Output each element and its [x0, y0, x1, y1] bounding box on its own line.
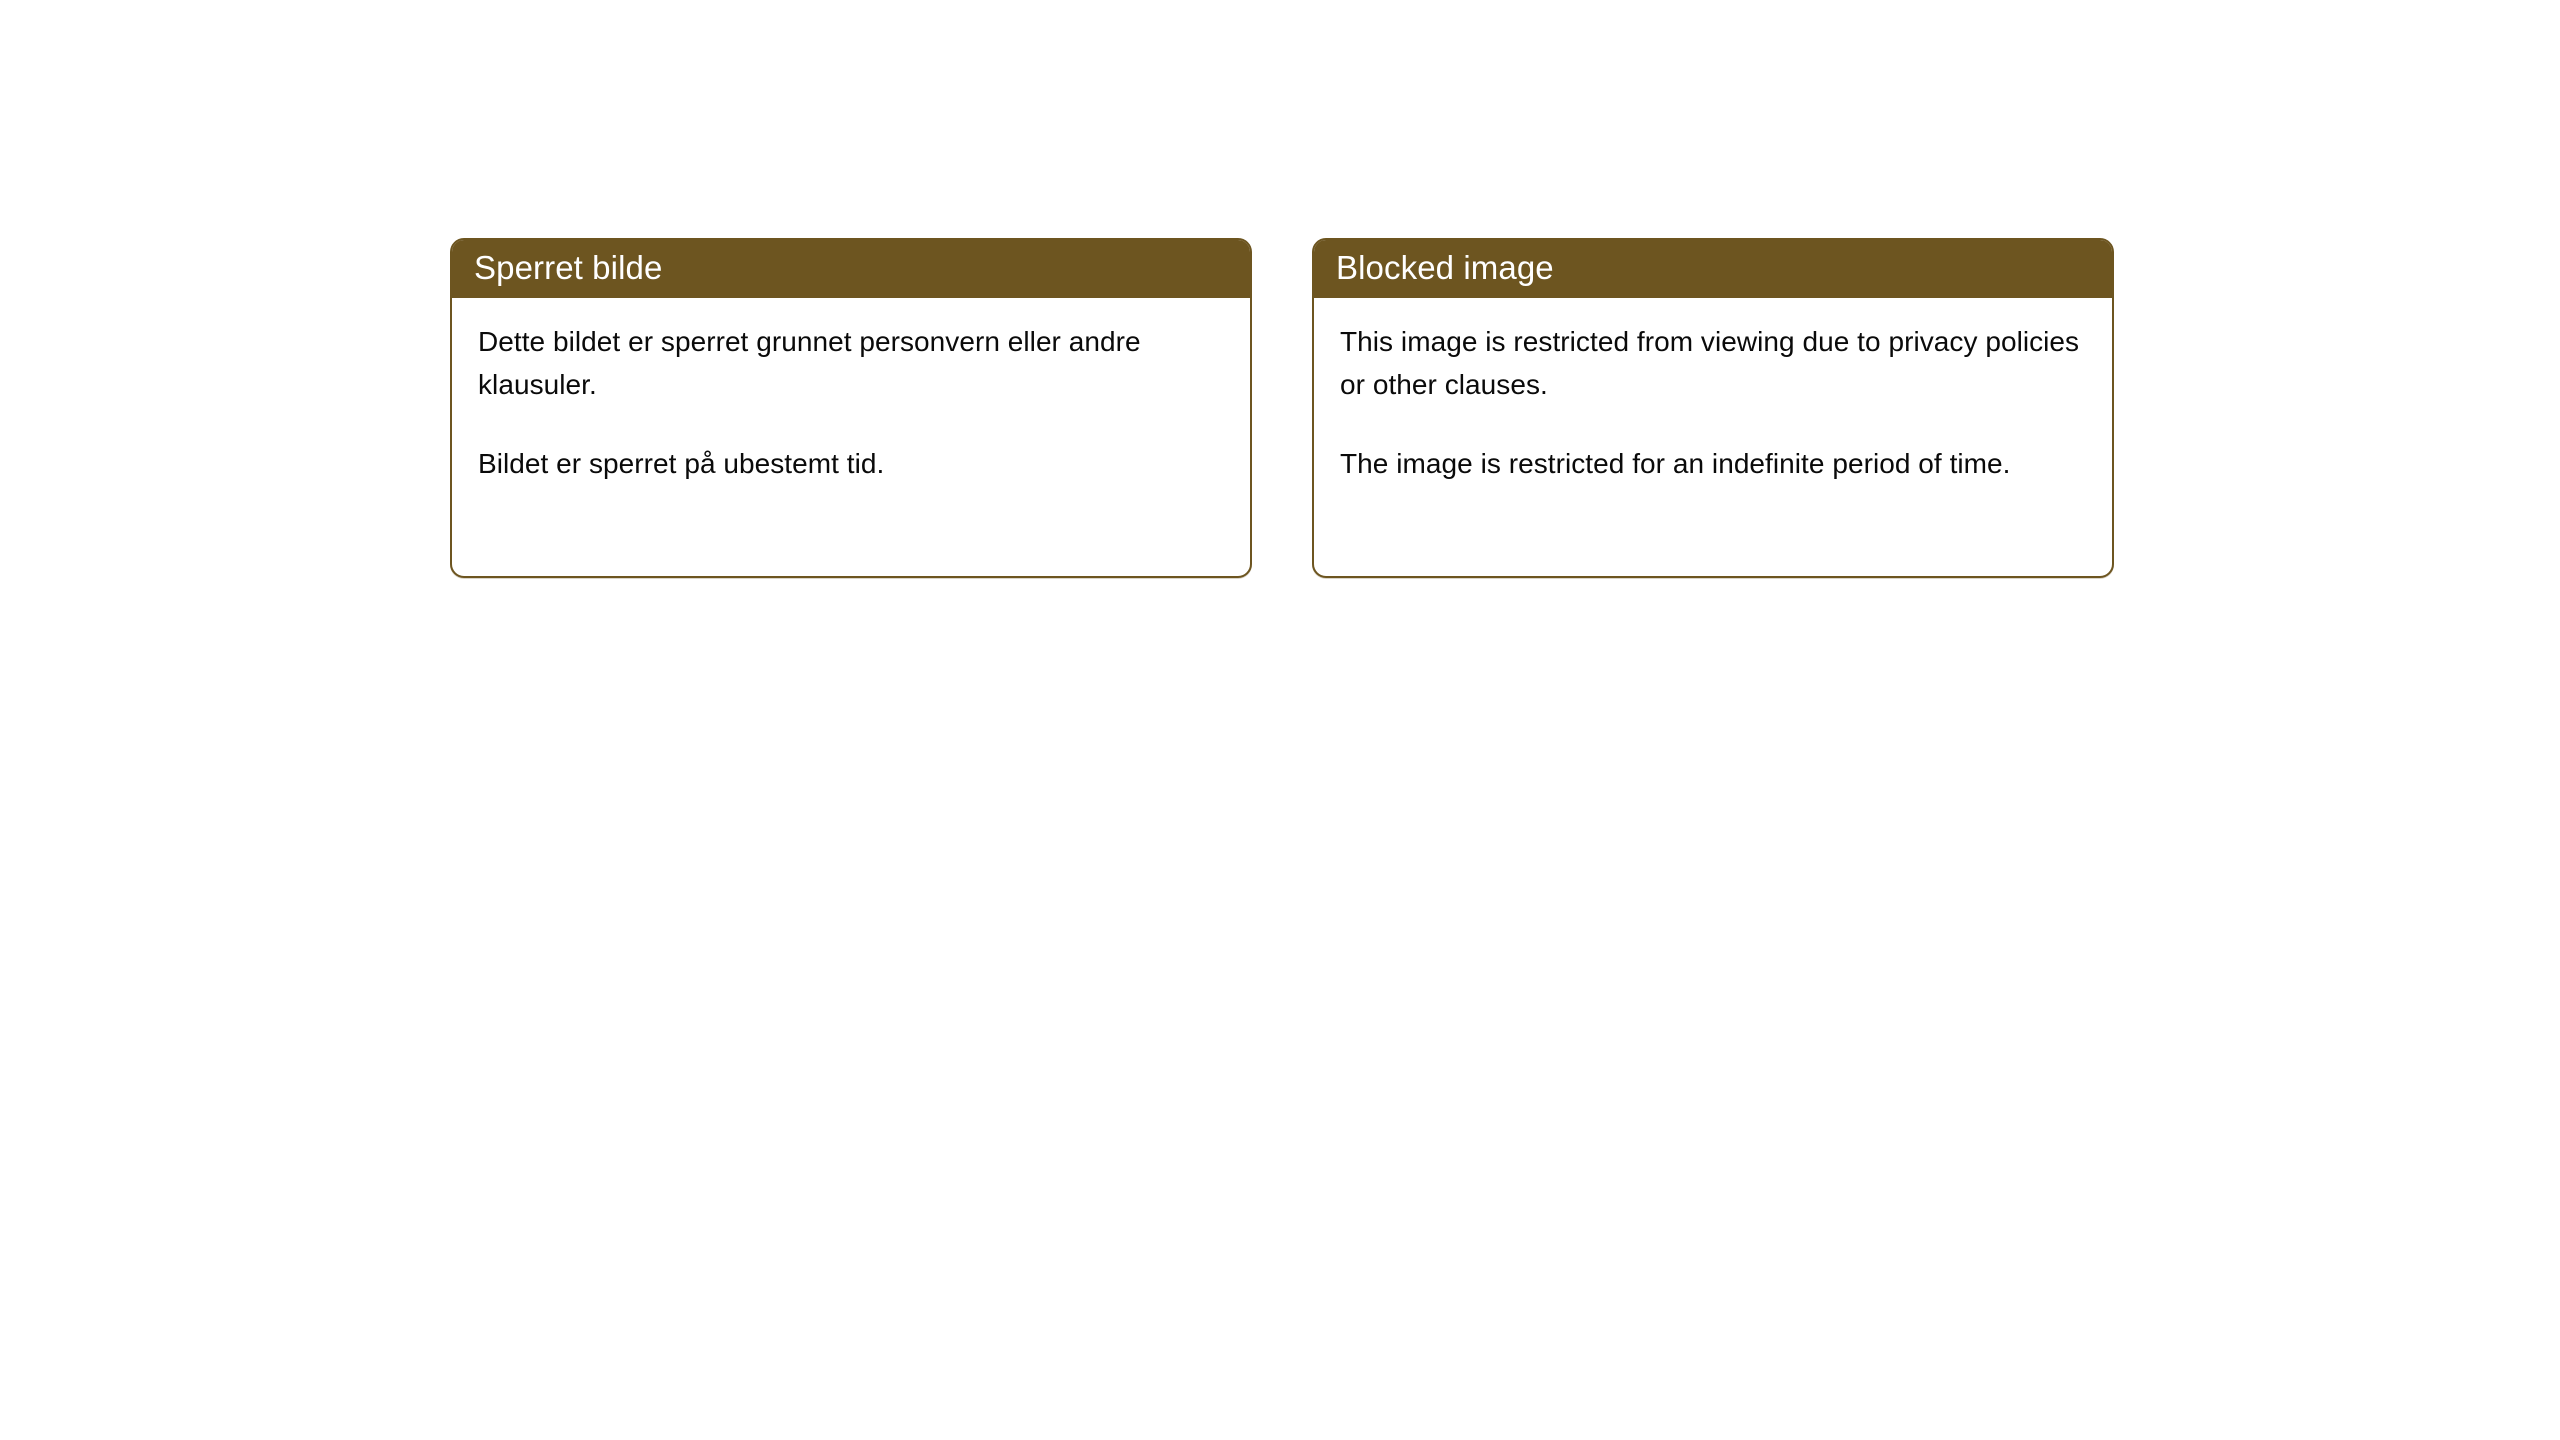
notice-title-english: Blocked image	[1336, 249, 1554, 287]
notice-paragraph-reason-english: This image is restricted from viewing du…	[1340, 320, 2086, 406]
notice-paragraph-reason-norwegian: Dette bildet er sperret grunnet personve…	[478, 320, 1224, 406]
notice-header-norwegian: Sperret bilde	[450, 238, 1252, 298]
notice-title-norwegian: Sperret bilde	[474, 249, 662, 287]
notice-stage: Sperret bilde Dette bildet er sperret gr…	[0, 0, 2560, 1440]
blocked-image-notice-card-english: Blocked image This image is restricted f…	[1312, 238, 2114, 578]
notice-paragraph-duration-english: The image is restricted for an indefinit…	[1340, 442, 2086, 485]
blocked-image-notice-card-norwegian: Sperret bilde Dette bildet er sperret gr…	[450, 238, 1252, 578]
notice-header-english: Blocked image	[1312, 238, 2114, 298]
notice-paragraph-duration-norwegian: Bildet er sperret på ubestemt tid.	[478, 442, 1224, 485]
notice-body-norwegian: Dette bildet er sperret grunnet personve…	[452, 298, 1250, 505]
notice-body-english: This image is restricted from viewing du…	[1314, 298, 2112, 505]
